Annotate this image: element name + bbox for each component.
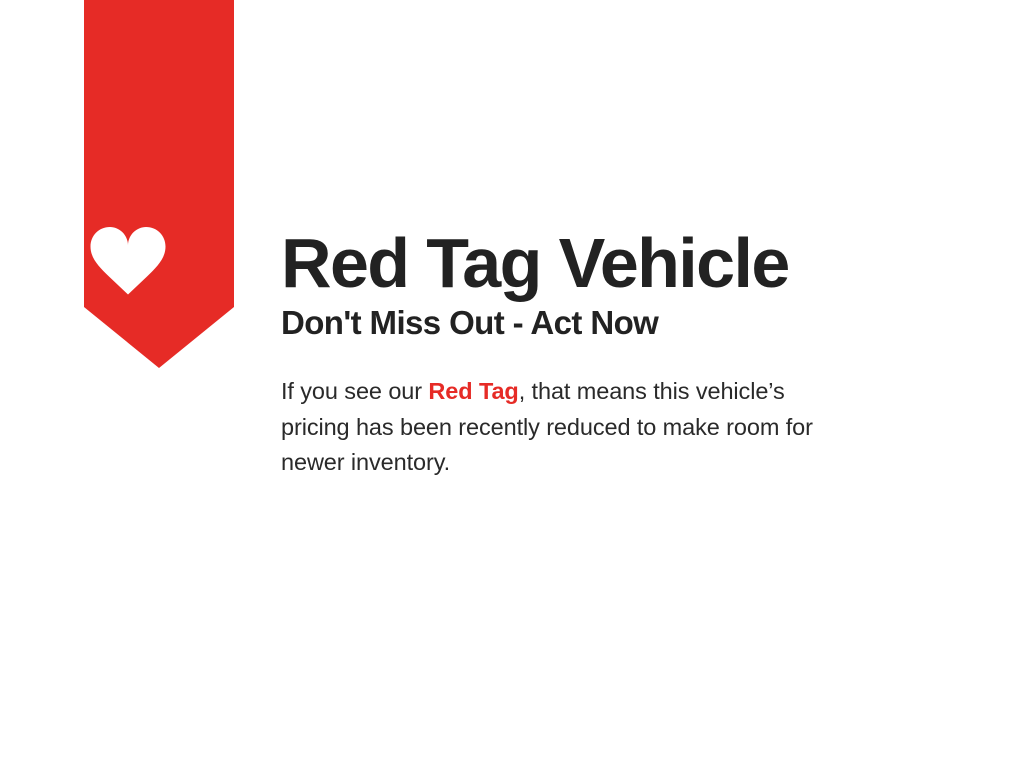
- body-paragraph: If you see our Red Tag, that means this …: [281, 374, 821, 481]
- banner-shape: [84, 0, 234, 368]
- body-lead-text: If you see our: [281, 378, 428, 404]
- page-title: Red Tag Vehicle: [281, 224, 789, 302]
- red-tag-accent-text: Red Tag: [428, 378, 518, 404]
- red-tag-banner: [84, 0, 234, 368]
- red-tag-vehicle-slide: Red Tag Vehicle Don't Miss Out - Act Now…: [0, 0, 1024, 768]
- subtitle: Don't Miss Out - Act Now: [281, 303, 658, 343]
